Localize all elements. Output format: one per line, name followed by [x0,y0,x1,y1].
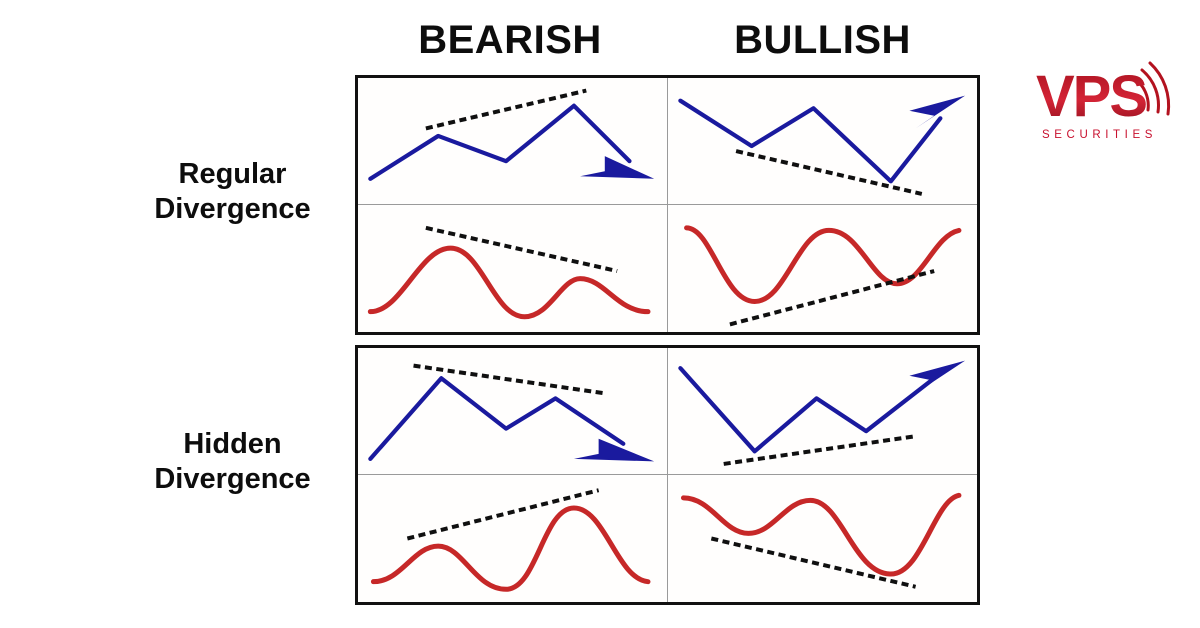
row-label-regular-line1: Regular [120,157,345,192]
oscillator-line [683,495,958,574]
arrow-down-icon [574,439,654,462]
regular-divergence-block [355,75,980,335]
logo-subtitle: SECURITIES [1042,129,1157,141]
oscillator-line [373,508,648,589]
trendline-dashed [426,91,586,129]
panel-regular-bullish-oscillator [668,205,978,332]
hidden-divergence-block [355,345,980,605]
price-line [370,106,629,179]
row-label-hidden-line1: Hidden [120,427,345,462]
hidden-bullish-price-chart [668,348,978,474]
panel-hidden-bullish-oscillator [668,475,978,602]
trendline-dashed [711,539,915,587]
logo-wordmark: VPS [1036,64,1146,129]
price-line [680,101,940,182]
panel-regular-bullish-price [668,78,978,205]
vps-securities-logo: VPS SECURITIES [1008,18,1196,162]
trendline-dashed [729,271,933,324]
regular-bearish-oscillator-chart [358,205,667,332]
hidden-bearish-oscillator-chart [358,475,667,602]
regular-bullish-oscillator-chart [668,205,978,332]
row-label-hidden-line2: Divergence [120,462,345,497]
trendline-dashed [407,490,598,538]
panel-hidden-bearish-price [358,348,668,475]
regular-bearish-price-chart [358,78,667,204]
oscillator-line [370,248,648,317]
column-header-bearish: BEARISH [355,14,665,66]
panel-hidden-bearish-oscillator [358,475,668,602]
trendline-dashed [736,151,922,194]
hidden-bullish-oscillator-chart [668,475,978,602]
panel-regular-bearish-price [358,78,668,205]
row-label-regular-line2: Divergence [120,192,345,227]
logo-artwork: VPS SECURITIES [1008,18,1196,162]
arrow-down-icon [580,156,654,179]
panel-hidden-bullish-price [668,348,978,475]
oscillator-line [686,228,958,302]
row-label-hidden-divergence: Hidden Divergence [120,427,345,498]
regular-bullish-price-chart [668,78,978,204]
row-label-regular-divergence: Regular Divergence [120,157,345,228]
panel-regular-bearish-oscillator [358,205,668,332]
column-header-bullish: BULLISH [665,14,980,66]
hidden-bearish-price-chart [358,348,667,474]
